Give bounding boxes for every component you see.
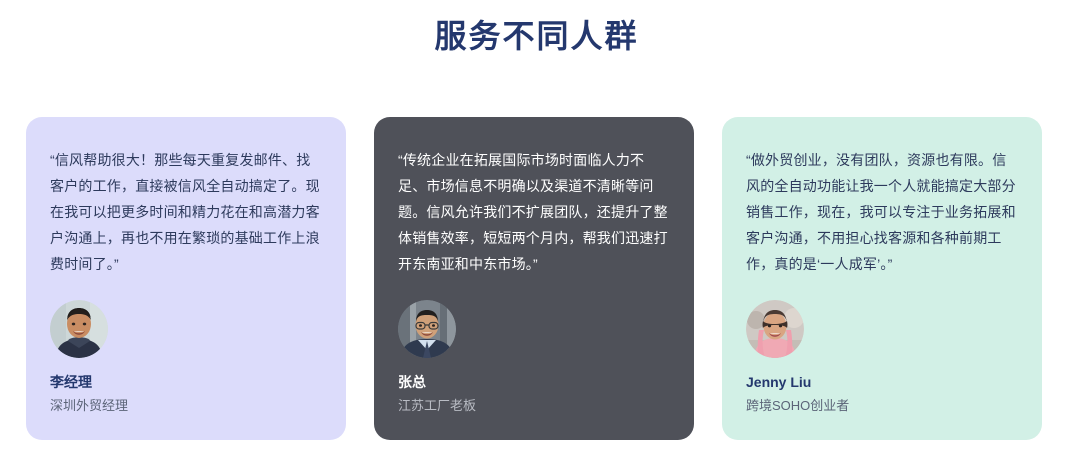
avatar xyxy=(746,300,804,358)
testimonial-card: “传统企业在拓展国际市场时面临人力不足、市场信息不明确以及渠道不清晰等问题。信风… xyxy=(374,117,694,440)
testimonial-author: 张总 江苏工厂老板 xyxy=(398,300,670,416)
testimonial-card: “做外贸创业，没有团队，资源也有限。信风的全自动功能让我一个人就能搞定大部分销售… xyxy=(722,117,1042,440)
testimonial-author: 李经理 深圳外贸经理 xyxy=(50,300,322,416)
testimonials-section: 服务不同人群 “信风帮助很大！那些每天重复发邮件、找客户的工作，直接被信风全自动… xyxy=(0,0,1073,465)
testimonial-quote: “做外贸创业，没有团队，资源也有限。信风的全自动功能让我一个人就能搞定大部分销售… xyxy=(746,147,1018,277)
author-name: 李经理 xyxy=(50,372,92,392)
testimonial-card: “信风帮助很大！那些每天重复发邮件、找客户的工作，直接被信风全自动搞定了。现在我… xyxy=(26,117,346,440)
author-role: 跨境SOHO创业者 xyxy=(746,396,849,416)
author-name: Jenny Liu xyxy=(746,372,811,392)
author-role: 深圳外贸经理 xyxy=(50,396,128,416)
author-name: 张总 xyxy=(398,372,426,392)
avatar xyxy=(398,300,456,358)
testimonial-author: Jenny Liu 跨境SOHO创业者 xyxy=(746,300,1018,416)
testimonial-quote: “信风帮助很大！那些每天重复发邮件、找客户的工作，直接被信风全自动搞定了。现在我… xyxy=(50,147,322,277)
avatar xyxy=(50,300,108,358)
page-title: 服务不同人群 xyxy=(0,0,1073,58)
author-role: 江苏工厂老板 xyxy=(398,396,476,416)
testimonial-card-list: “信风帮助很大！那些每天重复发邮件、找客户的工作，直接被信风全自动搞定了。现在我… xyxy=(26,117,1047,440)
testimonial-quote: “传统企业在拓展国际市场时面临人力不足、市场信息不明确以及渠道不清晰等问题。信风… xyxy=(398,147,670,277)
